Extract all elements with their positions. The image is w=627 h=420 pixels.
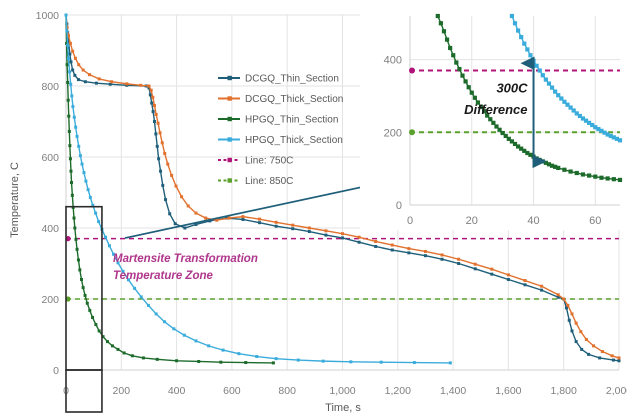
series-marker <box>612 359 615 362</box>
series-marker <box>74 57 77 60</box>
series-marker <box>77 258 80 261</box>
series-marker <box>599 176 603 180</box>
series-marker <box>488 117 492 121</box>
series-marker <box>467 85 471 89</box>
y-tick-label: 800 <box>41 81 59 93</box>
series-marker <box>175 359 178 362</box>
series-marker <box>463 79 467 83</box>
inset-reference-marker <box>409 129 415 135</box>
series-marker <box>70 181 73 184</box>
series-marker <box>73 74 76 77</box>
legend-label: DCGQ_Thick_Section <box>245 94 343 105</box>
series-marker <box>490 273 493 276</box>
series-marker <box>172 327 175 330</box>
legend-marker <box>228 158 232 162</box>
chart-legend: DCGQ_Thin_SectionDCGQ_Thick_SectionHPGQ_… <box>218 74 343 188</box>
inset-y-tick-label: 400 <box>384 55 402 67</box>
legend-item: DCGQ_Thin_Section <box>218 74 339 85</box>
series-marker <box>244 361 247 364</box>
series-marker <box>159 170 162 173</box>
legend-item: HPGQ_Thick_Section <box>218 135 343 146</box>
series-marker <box>587 353 590 356</box>
series-marker <box>491 121 495 125</box>
series-marker <box>161 141 164 144</box>
legend-item: DCGQ_Thick_Section <box>218 94 343 105</box>
series-marker <box>156 145 159 148</box>
series-marker <box>457 258 460 261</box>
series-marker <box>297 359 300 362</box>
y-axis-title: Temperature, C <box>9 162 21 238</box>
series-marker <box>507 273 510 276</box>
y-tick-label: 400 <box>41 223 59 235</box>
series-marker <box>566 304 569 307</box>
series-marker <box>531 59 535 63</box>
series-marker <box>374 245 377 248</box>
series-marker <box>349 360 352 363</box>
series-marker <box>194 212 197 215</box>
series-marker <box>111 344 114 347</box>
series-marker <box>457 262 460 265</box>
series-marker <box>140 295 143 298</box>
series-marker <box>131 354 134 357</box>
series-line <box>66 15 273 363</box>
series-marker <box>341 232 344 235</box>
series-marker <box>510 14 514 18</box>
series-marker <box>275 221 278 224</box>
series-marker <box>197 360 200 363</box>
series-marker <box>150 102 153 105</box>
series-marker <box>222 349 225 352</box>
series-marker <box>380 361 383 364</box>
series-marker <box>341 236 344 239</box>
martensite-zone-line1: Martensite Transformation <box>113 253 258 265</box>
martensite-zone-line2: Temperature Zone <box>113 270 214 282</box>
series-marker <box>180 195 183 198</box>
series-marker <box>87 188 90 191</box>
series-marker <box>66 44 69 47</box>
series-marker <box>82 69 85 72</box>
series-marker <box>194 339 197 342</box>
series-marker <box>547 82 551 86</box>
series-marker <box>490 268 493 271</box>
series-marker <box>97 220 100 223</box>
series-marker <box>525 47 529 51</box>
series-marker <box>618 356 621 359</box>
series-marker <box>81 163 84 166</box>
series-marker <box>541 73 545 77</box>
series-marker <box>164 198 167 201</box>
series-marker <box>291 227 294 230</box>
series-marker <box>125 82 128 85</box>
series-marker <box>258 218 261 221</box>
series-marker <box>183 227 186 230</box>
zoom-box-extension <box>66 370 102 412</box>
series-marker <box>258 221 261 224</box>
series-marker <box>562 168 566 172</box>
series-marker <box>147 85 150 88</box>
series-marker <box>516 28 520 32</box>
series-marker <box>606 176 610 180</box>
series-marker <box>523 283 526 286</box>
series-marker <box>550 86 554 90</box>
series-marker <box>80 278 83 281</box>
series-marker <box>69 60 72 63</box>
series-marker <box>272 361 275 364</box>
series-marker <box>67 115 70 118</box>
series-marker <box>544 78 548 82</box>
series-marker <box>457 67 461 71</box>
series-marker <box>413 361 416 364</box>
series-marker <box>540 285 543 288</box>
series-marker <box>308 230 311 233</box>
series-marker <box>275 357 278 360</box>
series-marker <box>592 344 595 347</box>
series-marker <box>71 69 74 72</box>
series-marker <box>424 254 427 257</box>
series-marker <box>358 236 361 239</box>
series-marker <box>241 215 244 218</box>
quench-curve-chart: 0200400600800100002004006008001,0001,200… <box>0 0 627 420</box>
legend-item: HPGQ_Thin_Section <box>218 115 338 126</box>
series-marker <box>116 348 119 351</box>
series-marker <box>442 29 446 33</box>
series-marker <box>391 249 394 252</box>
series-marker <box>73 116 76 119</box>
series-marker <box>157 122 160 125</box>
series-marker <box>157 157 160 160</box>
series-marker <box>570 312 573 315</box>
series-marker <box>139 84 142 87</box>
series-marker <box>436 14 440 18</box>
x-tick-label: 800 <box>278 385 296 397</box>
series-marker <box>79 154 82 157</box>
series-marker <box>152 110 155 113</box>
series-marker <box>82 286 85 289</box>
series-marker <box>73 227 76 230</box>
series-marker <box>562 298 565 301</box>
series-marker <box>207 344 210 347</box>
inset-reference-marker <box>409 68 415 74</box>
x-tick-label: 1,000 <box>329 385 355 397</box>
series-marker <box>71 105 74 108</box>
series-marker <box>70 94 73 97</box>
series-marker <box>88 73 91 76</box>
series-marker <box>538 68 542 72</box>
series-marker <box>82 171 85 174</box>
series-marker <box>507 278 510 281</box>
y-tick-label: 1000 <box>36 10 60 22</box>
series-marker <box>585 338 588 341</box>
series-marker <box>449 361 452 364</box>
series-marker <box>441 258 444 261</box>
series-marker <box>98 77 101 80</box>
series-marker <box>557 293 560 296</box>
series-marker <box>94 212 97 215</box>
x-tick-label: 1,600 <box>495 385 521 397</box>
series-marker <box>618 178 622 182</box>
legend-label: Line: 850C <box>245 176 293 187</box>
series-marker <box>65 14 68 17</box>
series-marker <box>241 218 244 221</box>
series-marker <box>106 340 109 343</box>
series-marker <box>67 99 70 102</box>
series-marker <box>69 83 72 86</box>
series-marker <box>77 145 80 148</box>
series-marker <box>454 60 458 64</box>
x-axis-title: Time, s <box>325 402 361 414</box>
series-marker <box>255 355 258 358</box>
series-marker <box>568 319 571 322</box>
series-marker <box>441 253 444 256</box>
inset-difference-line1: 300C <box>496 80 528 95</box>
series-marker <box>65 29 68 32</box>
series-marker <box>69 157 72 160</box>
inset-y-tick-label: 200 <box>384 127 402 139</box>
legend-item: Line: 850C <box>218 176 293 187</box>
series-marker <box>91 316 94 319</box>
series-marker <box>448 46 452 50</box>
inset-y-tick-label: 0 <box>396 200 402 212</box>
series-marker <box>159 131 162 134</box>
series-marker <box>94 323 97 326</box>
series-marker <box>553 90 557 94</box>
series-marker <box>66 63 69 66</box>
x-tick-label: 1,200 <box>385 385 411 397</box>
series-marker <box>611 354 614 357</box>
y-tick-label: 0 <box>53 365 59 377</box>
series-marker <box>308 227 311 230</box>
series-marker <box>66 81 69 84</box>
series-marker <box>523 279 526 282</box>
series-marker <box>150 89 153 92</box>
series-marker <box>601 350 604 353</box>
series-marker <box>155 113 158 116</box>
series-marker <box>86 302 89 305</box>
legend-label: HPGQ_Thin_Section <box>245 115 338 126</box>
legend-label: HPGQ_Thick_Section <box>245 135 343 146</box>
series-marker <box>204 217 207 220</box>
series-marker <box>324 234 327 237</box>
series-marker <box>575 171 579 175</box>
series-marker <box>618 359 621 362</box>
series-marker <box>580 348 583 351</box>
chart-canvas: 0200400600800100002004006008001,0001,200… <box>0 0 627 420</box>
legend-marker <box>228 137 232 141</box>
y-tick-label: 200 <box>41 294 59 306</box>
series-marker <box>291 224 294 227</box>
series-marker <box>219 361 222 364</box>
series-marker <box>391 244 394 247</box>
series-marker <box>474 263 477 266</box>
series-marker <box>183 334 186 337</box>
series-marker <box>163 152 166 155</box>
series-marker <box>598 356 601 359</box>
series-marker <box>424 250 427 253</box>
series-marker <box>163 320 166 323</box>
series-marker <box>570 329 573 332</box>
series-marker <box>68 144 71 147</box>
series-marker <box>535 64 539 68</box>
series-marker <box>166 163 169 166</box>
series-marker <box>98 329 101 332</box>
series-marker <box>133 287 136 290</box>
y-tick-label: 600 <box>41 152 59 164</box>
x-tick-label: 600 <box>223 385 241 397</box>
series-marker <box>73 217 76 220</box>
inset-x-tick-label: 20 <box>466 215 478 227</box>
series-marker <box>161 184 164 187</box>
series-marker <box>513 21 517 25</box>
series-marker <box>95 82 98 85</box>
series-marker <box>237 352 240 355</box>
inset-x-tick-label: 60 <box>589 215 601 227</box>
inset-x-tick-label: 40 <box>527 215 539 227</box>
legend-marker <box>228 76 232 80</box>
series-marker <box>519 35 523 39</box>
series-marker <box>322 360 325 363</box>
x-tick-label: 400 <box>168 385 186 397</box>
series-marker <box>74 126 77 129</box>
x-tick-label: 2,000 <box>606 385 627 397</box>
series-marker <box>587 173 591 177</box>
series-marker <box>473 96 477 100</box>
series-marker <box>324 229 327 232</box>
series-marker <box>470 91 474 95</box>
series-marker <box>156 358 159 361</box>
series-marker <box>74 238 77 241</box>
series-marker <box>228 217 231 220</box>
series-marker <box>575 322 578 325</box>
series-marker <box>275 225 278 228</box>
series-marker <box>474 267 477 270</box>
x-tick-label: 1,400 <box>440 385 466 397</box>
legend-label: Line: 750C <box>245 156 293 167</box>
series-marker <box>154 132 157 135</box>
series-marker <box>77 78 80 81</box>
series-marker <box>568 169 572 173</box>
series-marker <box>556 166 560 170</box>
series-marker <box>579 330 582 333</box>
series-marker <box>76 135 79 138</box>
series-marker <box>187 204 190 207</box>
series-marker <box>168 212 171 215</box>
legend-marker <box>228 117 232 121</box>
series-marker <box>104 236 107 239</box>
series-marker <box>84 80 87 83</box>
series-marker <box>110 80 113 83</box>
series-marker <box>540 289 543 292</box>
series-marker <box>581 172 585 176</box>
series-marker <box>175 185 178 188</box>
series-marker <box>618 138 622 142</box>
legend-marker <box>228 96 232 100</box>
series-marker <box>445 38 449 42</box>
inset-difference-line2: Difference <box>464 102 527 117</box>
series-marker <box>108 244 111 247</box>
series-marker <box>84 294 87 297</box>
series-marker <box>77 63 80 66</box>
series-marker <box>593 175 597 179</box>
series-marker <box>69 170 72 173</box>
series-marker <box>460 74 464 78</box>
series-marker <box>147 304 150 307</box>
x-tick-label: 200 <box>113 385 131 397</box>
series-marker <box>89 196 92 199</box>
series-marker <box>174 222 177 225</box>
series-marker <box>528 53 532 57</box>
legend-marker <box>228 178 232 182</box>
series-marker <box>68 130 71 133</box>
series-marker <box>69 42 72 45</box>
series-marker <box>439 21 443 25</box>
legend-label: DCGQ_Thin_Section <box>245 74 339 85</box>
series-marker <box>407 247 410 250</box>
series-marker <box>358 241 361 244</box>
series-marker <box>142 356 145 359</box>
series-marker <box>76 248 79 251</box>
series-marker <box>153 104 156 107</box>
series-marker <box>153 120 156 123</box>
series-marker <box>123 351 126 354</box>
series-marker <box>575 340 578 343</box>
series-marker <box>71 50 74 53</box>
series-marker <box>612 177 616 181</box>
inset-plot: 02004000204060300CDifference <box>360 2 626 230</box>
series-marker <box>84 180 87 183</box>
series-marker <box>451 53 455 57</box>
series-marker <box>151 96 154 99</box>
series-marker <box>155 312 158 315</box>
x-tick-label: 1,800 <box>551 385 577 397</box>
series-marker <box>88 309 91 312</box>
series-marker <box>71 194 74 197</box>
series-marker <box>522 42 526 46</box>
series-marker <box>407 251 410 254</box>
inset-x-tick-label: 0 <box>407 215 413 227</box>
series-marker <box>170 174 173 177</box>
series-marker <box>67 57 70 60</box>
series-marker <box>68 70 71 73</box>
series-marker <box>374 240 377 243</box>
series-marker <box>78 268 81 271</box>
